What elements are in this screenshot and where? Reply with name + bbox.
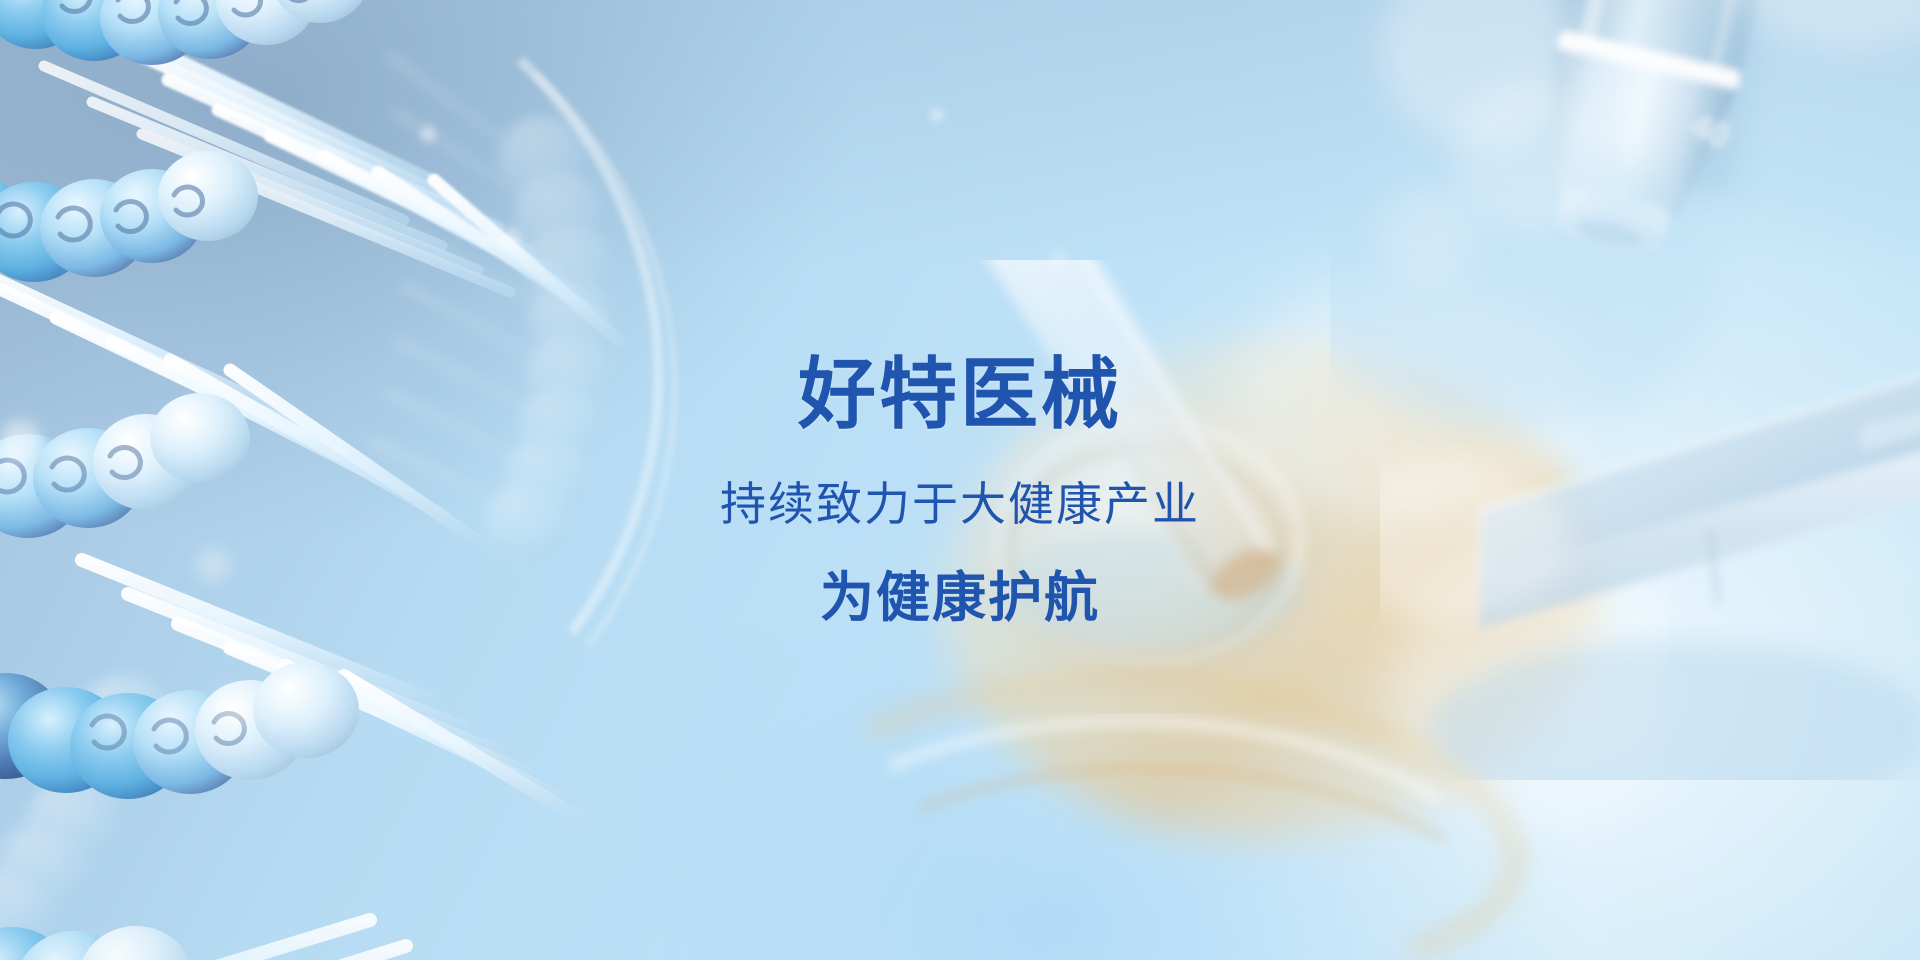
company-slogan: 为健康护航 — [0, 566, 1920, 630]
hero-banner: 40 好特医械 持续致力于大健康产业 为健康护航 — [0, 0, 1920, 960]
banner-copy: 好特医械 持续致力于大健康产业 为健康护航 — [0, 0, 1920, 960]
company-title: 好特医械 — [0, 350, 1920, 438]
company-subtitle: 持续致力于大健康产业 — [0, 476, 1920, 532]
